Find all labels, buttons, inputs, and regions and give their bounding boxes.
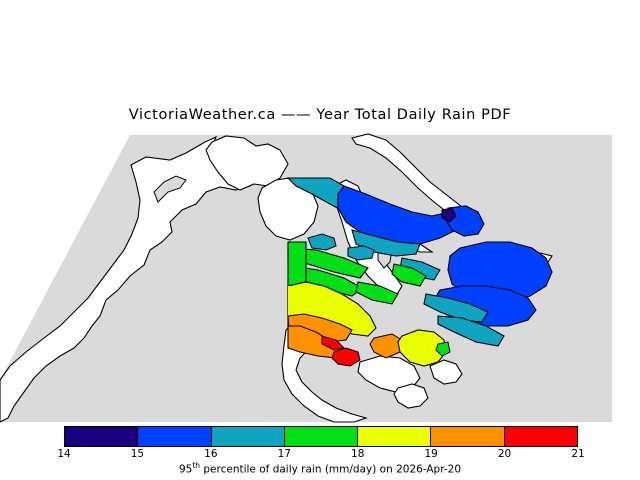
colorbar-wrap: 14 15 16 17 18 19 20 21 95th percentile … [0, 424, 640, 480]
colorbar-segment-18-19 [358, 427, 431, 446]
caption-text: percentile of daily rain (mm/day) on 202… [200, 464, 461, 476]
colorbar-tick-5: 19 [424, 448, 437, 460]
caption-percentile-number: 95 [179, 464, 192, 476]
colorbar-tick-6: 20 [498, 448, 511, 460]
map-area [0, 130, 640, 426]
colorbar-segment-14-15 [65, 427, 138, 446]
colorbar-tick-1: 15 [131, 448, 144, 460]
colorbar-segment-15-16 [138, 427, 211, 446]
colorbar-tick-3: 17 [278, 448, 291, 460]
colorbar-segment-16-17 [212, 427, 285, 446]
region-teal-islet-b [348, 246, 374, 260]
colorbar-ticks: 14 15 16 17 18 19 20 21 [0, 448, 640, 462]
colorbar[interactable] [64, 426, 578, 447]
map-svg [0, 130, 640, 426]
colorbar-tick-7: 21 [571, 448, 584, 460]
page-title: VictoriaWeather.ca —— Year Total Daily R… [0, 107, 640, 123]
colorbar-segment-20-21 [505, 427, 577, 446]
colorbar-caption: 95th percentile of daily rain (mm/day) o… [0, 461, 640, 476]
colorbar-tick-0: 14 [57, 448, 70, 460]
colorbar-segment-19-20 [431, 427, 504, 446]
weather-map-page: VictoriaWeather.ca —— Year Total Daily R… [0, 0, 640, 480]
colorbar-tick-4: 18 [351, 448, 364, 460]
caption-ordinal-suffix: th [192, 461, 200, 470]
colorbar-segment-17-18 [285, 427, 358, 446]
colorbar-tick-2: 16 [204, 448, 217, 460]
